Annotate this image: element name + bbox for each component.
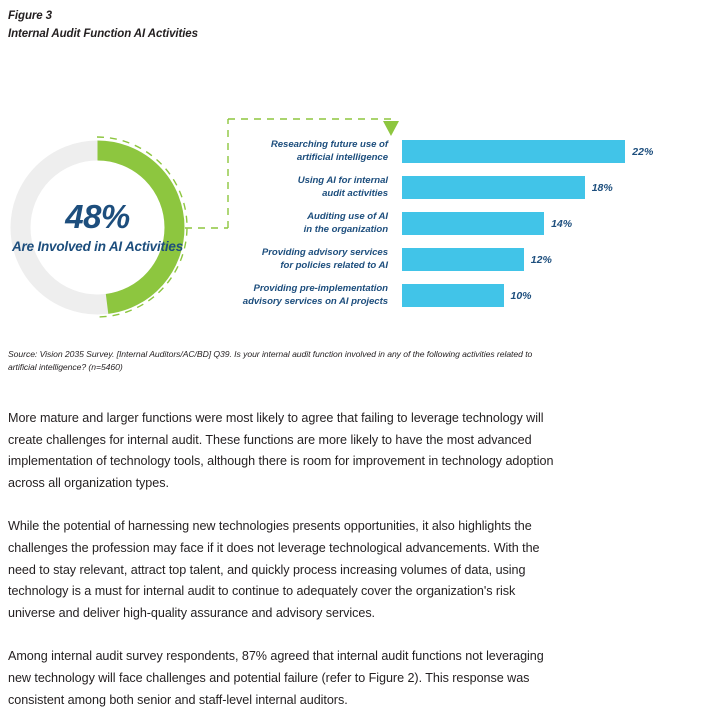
bar-chart: Researching future use of artificial int… — [0, 140, 715, 320]
bar-category-label: Using AI for internal audit activities — [198, 175, 388, 199]
bar-fill — [402, 248, 524, 271]
figure-number: Figure 3 — [8, 8, 608, 24]
body-paragraph: More mature and larger functions were mo… — [8, 408, 560, 494]
figure-title: Internal Audit Function AI Activities — [8, 26, 608, 42]
bar-track: 22% — [402, 140, 653, 163]
bar-fill — [402, 176, 585, 199]
bar-row: Researching future use of artificial int… — [0, 140, 715, 163]
figure-header: Figure 3 Internal Audit Function AI Acti… — [8, 8, 608, 42]
body-paragraph: Among internal audit survey respondents,… — [8, 646, 560, 711]
bar-track: 14% — [402, 212, 572, 235]
bar-track: 18% — [402, 176, 613, 199]
bar-track: 12% — [402, 248, 552, 271]
bar-row: Providing advisory services for policies… — [0, 248, 715, 271]
body-paragraph: While the potential of harnessing new te… — [8, 516, 560, 624]
figure-graphic: 48% Are Involved in AI Activities Resear… — [0, 100, 715, 340]
bar-category-label: Providing advisory services for policies… — [198, 247, 388, 271]
bar-fill — [402, 284, 504, 307]
bar-value-label: 22% — [632, 146, 653, 158]
bar-value-label: 14% — [551, 218, 572, 230]
bar-row: Using AI for internal audit activities 1… — [0, 176, 715, 199]
bar-row: Providing pre-implementation advisory se… — [0, 284, 715, 307]
bar-fill — [402, 212, 544, 235]
body-copy: More mature and larger functions were mo… — [8, 408, 560, 711]
bar-category-label: Providing pre-implementation advisory se… — [198, 283, 388, 307]
bar-value-label: 12% — [531, 254, 552, 266]
bar-value-label: 10% — [511, 290, 532, 302]
source-note: Source: Vision 2035 Survey. [Internal Au… — [8, 348, 548, 373]
bar-track: 10% — [402, 284, 532, 307]
arrow-down-icon — [383, 121, 399, 136]
bar-fill — [402, 140, 625, 163]
bar-category-label: Auditing use of AI in the organization — [198, 211, 388, 235]
bar-row: Auditing use of AI in the organization 1… — [0, 212, 715, 235]
bar-value-label: 18% — [592, 182, 613, 194]
bar-category-label: Researching future use of artificial int… — [198, 139, 388, 163]
